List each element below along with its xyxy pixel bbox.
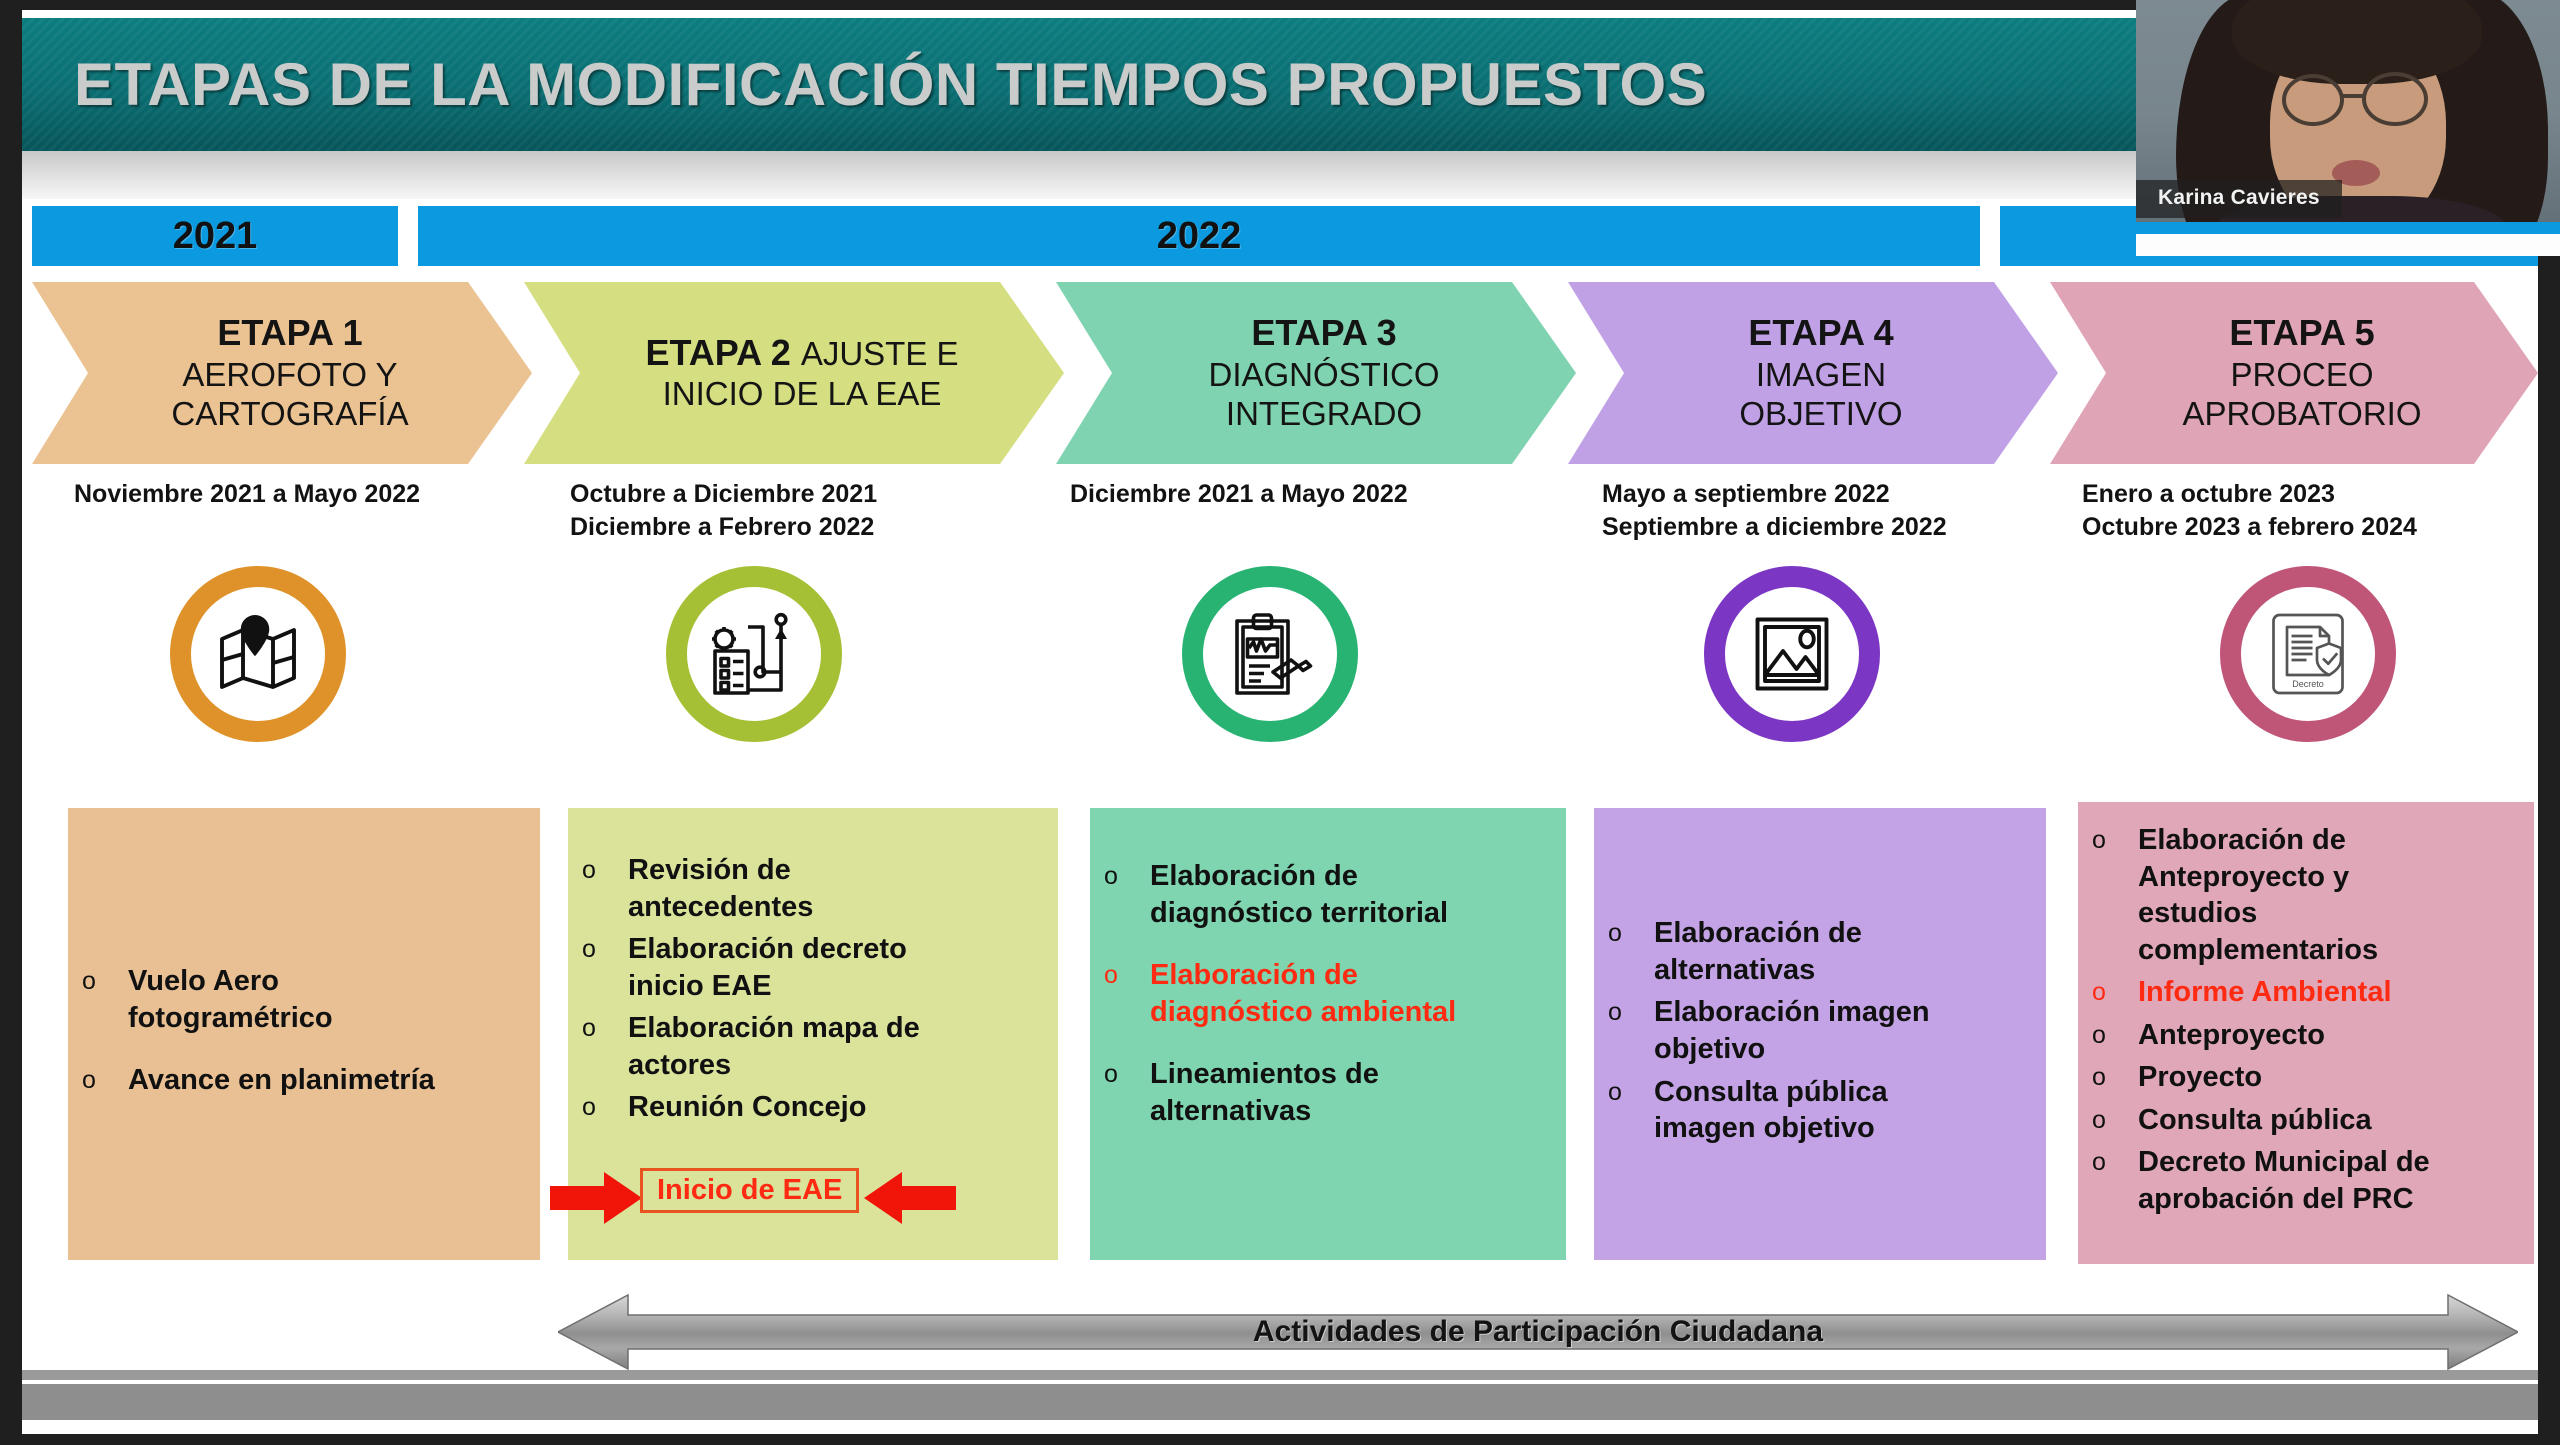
bullet-glyph: o xyxy=(2092,1144,2138,1180)
page-title: ETAPAS DE LA MODIFICACIÓN TIEMPOS PROPUE… xyxy=(74,50,1707,119)
left-red-arrow-icon xyxy=(550,1170,642,1226)
list-item: o Consulta públicaimagen objetivo xyxy=(1608,1074,1930,1147)
list-item-highlighted: o Elaboración dediagnóstico ambiental xyxy=(1104,957,1548,1030)
list-item-text: Vuelo Aerofotogramétrico xyxy=(128,963,333,1036)
stage-1-icon-ring xyxy=(170,566,346,742)
list-item-text: Decreto Municipal deaprobación del PRC xyxy=(2138,1144,2430,1217)
bullet-glyph: o xyxy=(1608,915,1654,951)
bullet-glyph: o xyxy=(82,1062,128,1098)
stage-chevron-4: ETAPA 4 IMAGENOBJETIVO xyxy=(1568,282,2058,464)
list-item-text: Elaboración dediagnóstico territorial xyxy=(1150,858,1448,931)
bullet-glyph: o xyxy=(2092,822,2138,858)
stage-5-content-box: o Elaboración deAnteproyecto yestudiosco… xyxy=(2078,802,2534,1264)
list-item: o Anteproyecto xyxy=(2092,1017,2516,1054)
stage-5-title: ETAPA 5 xyxy=(2229,312,2374,354)
bullet-glyph: o xyxy=(1104,957,1150,993)
stage-chevron-1: ETAPA 1 AEROFOTO YCARTOGRAFÍA xyxy=(32,282,532,464)
list-item-text: Consulta pública xyxy=(2138,1102,2372,1139)
list-item-text: Elaboración mapa deactores xyxy=(628,1010,920,1083)
stage-2-subtitle: INICIO DE LA EAE xyxy=(663,374,942,414)
banner-divider xyxy=(22,151,2162,199)
stage-2-icon-ring xyxy=(666,566,842,742)
list-item: o Proyecto xyxy=(2092,1059,2516,1096)
stage-chevron-5: ETAPA 5 PROCEOAPROBATORIO xyxy=(2050,282,2538,464)
list-item-text: Reunión Concejo xyxy=(628,1089,866,1126)
stage-1-content-box: o Vuelo Aerofotogramétrico o Avance en p… xyxy=(68,808,540,1260)
list-item-text: Proyecto xyxy=(2138,1059,2262,1096)
avatar-glasses-bridge xyxy=(2343,94,2365,98)
stage-1-subtitle: AEROFOTO YCARTOGRAFÍA xyxy=(171,355,408,434)
decree-document-icon: Decreto xyxy=(2260,606,2356,702)
list-item: o Elaboración decretoinicio EAE xyxy=(582,931,1040,1004)
bullet-glyph: o xyxy=(2092,1059,2138,1095)
bullet-glyph: o xyxy=(2092,1017,2138,1053)
list-item-text: Elaboración dealternativas xyxy=(1654,915,1862,988)
map-pin-icon xyxy=(210,606,306,702)
bullet-glyph: o xyxy=(582,931,628,967)
list-item: o Elaboración dediagnóstico territorial xyxy=(1104,858,1548,931)
screen-share-view: ETAPAS DE LA MODIFICACIÓN TIEMPOS PROPUE… xyxy=(0,0,2560,1445)
participant-video-tile[interactable]: Karina Cavieres xyxy=(2136,0,2560,256)
stage-4-subtitle: IMAGENOBJETIVO xyxy=(1739,355,1902,434)
stage-3-content-box: o Elaboración dediagnóstico territorial … xyxy=(1090,808,1566,1260)
list-item-highlighted: o Informe Ambiental xyxy=(2092,974,2516,1011)
inicio-eae-callout[interactable]: Inicio de EAE xyxy=(640,1168,859,1213)
avatar-glasses-left xyxy=(2282,74,2344,126)
stage-3-subtitle: DIAGNÓSTICOINTEGRADO xyxy=(1208,355,1439,434)
video-tile-footer xyxy=(2136,234,2560,256)
bullet-glyph: o xyxy=(1104,1056,1150,1092)
stage-3-icon-ring xyxy=(1182,566,1358,742)
video-active-speaker-bar xyxy=(2136,222,2560,234)
list-item-text: Lineamientos dealternativas xyxy=(1150,1056,1379,1129)
clipboard-pencil-icon xyxy=(1222,606,1318,702)
workflow-process-icon xyxy=(706,606,802,702)
bullet-glyph: o xyxy=(82,963,128,999)
list-item: o Decreto Municipal deaprobación del PRC xyxy=(2092,1144,2516,1217)
list-item: o Elaboración deAnteproyecto yestudiosco… xyxy=(2092,822,2516,968)
decree-icon-label: Decreto xyxy=(2292,679,2324,689)
stage-chevron-3: ETAPA 3 DIAGNÓSTICOINTEGRADO xyxy=(1056,282,1576,464)
stage-3-title: ETAPA 3 xyxy=(1251,312,1396,354)
list-item: o Elaboración imagenobjetivo xyxy=(1608,994,1930,1067)
list-item: o Reunión Concejo xyxy=(582,1089,1040,1126)
stage-3-dates: Diciembre 2021 a Mayo 2022 xyxy=(1070,478,1500,511)
list-item: o Lineamientos dealternativas xyxy=(1104,1056,1548,1129)
stage-3-bullet-list: o Elaboración dediagnóstico territorial … xyxy=(1104,824,1548,1129)
stage-1-title: ETAPA 1 xyxy=(217,312,362,354)
participation-activities-label: Actividades de Participación Ciudadana xyxy=(558,1306,2518,1358)
timeline-year-2022: 2022 xyxy=(418,206,1980,266)
right-red-arrow-icon xyxy=(864,1170,956,1226)
list-item-text: Elaboración dediagnóstico ambiental xyxy=(1150,957,1456,1030)
list-item-text: Elaboración imagenobjetivo xyxy=(1654,994,1930,1067)
timeline-year-2022-label: 2022 xyxy=(1157,215,1242,258)
list-item: o Elaboración mapa deactores xyxy=(582,1010,1040,1083)
stage-2-title-inline: AJUSTE E xyxy=(801,335,959,372)
bottom-strip-bottom xyxy=(22,1420,2538,1434)
bullet-glyph: o xyxy=(2092,1102,2138,1138)
stage-4-content-box: o Elaboración dealternativas o Elaboraci… xyxy=(1594,808,2046,1260)
list-item-text: Revisión deantecedentes xyxy=(628,852,813,925)
list-item: o Elaboración dealternativas xyxy=(1608,915,1930,988)
stage-chevron-2: ETAPA 2 AJUSTE E INICIO DE LA EAE xyxy=(524,282,1064,464)
bottom-strip-mid xyxy=(22,1384,2538,1420)
stage-1-bullet-list: o Vuelo Aerofotogramétrico o Avance en p… xyxy=(82,963,435,1105)
stage-2-dates: Octubre a Diciembre 2021 Diciembre a Feb… xyxy=(570,478,990,544)
bullet-glyph: o xyxy=(1104,858,1150,894)
stage-2-title: ETAPA 2 AJUSTE E xyxy=(645,332,958,374)
avatar-glasses-right xyxy=(2362,72,2428,126)
stage-4-icon-ring xyxy=(1704,566,1880,742)
participant-name-label: Karina Cavieres xyxy=(2136,180,2342,218)
list-item-text: Informe Ambiental xyxy=(2138,974,2392,1011)
list-item: o Consulta pública xyxy=(2092,1102,2516,1139)
image-photo-icon xyxy=(1744,606,1840,702)
list-item: o Avance en planimetría xyxy=(82,1062,435,1099)
bullet-glyph: o xyxy=(582,1010,628,1046)
timeline-year-2021-label: 2021 xyxy=(173,215,258,258)
list-item-text: Avance en planimetría xyxy=(128,1062,435,1099)
bullet-glyph: o xyxy=(2092,974,2138,1010)
timeline-year-2021: 2021 xyxy=(32,206,398,266)
bottom-strip-top xyxy=(22,1370,2538,1380)
stage-4-bullet-list: o Elaboración dealternativas o Elaboraci… xyxy=(1608,915,1930,1152)
stage-1-dates: Noviembre 2021 a Mayo 2022 xyxy=(74,478,514,511)
stage-4-title: ETAPA 4 xyxy=(1748,312,1893,354)
stage-2-bullet-list: o Revisión deantecedentes o Elaboración … xyxy=(582,824,1040,1126)
list-item: o Revisión deantecedentes xyxy=(582,852,1040,925)
bullet-glyph: o xyxy=(1608,1074,1654,1110)
stage-5-bullet-list: o Elaboración deAnteproyecto yestudiosco… xyxy=(2092,818,2516,1217)
slide-title-banner: ETAPAS DE LA MODIFICACIÓN TIEMPOS PROPUE… xyxy=(22,18,2162,151)
avatar-hair-top xyxy=(2232,0,2482,84)
stage-5-icon-ring: Decreto xyxy=(2220,566,2396,742)
bullet-glyph: o xyxy=(1608,994,1654,1030)
stage-5-dates: Enero a octubre 2023 Octubre 2023 a febr… xyxy=(2082,478,2532,544)
list-item: o Vuelo Aerofotogramétrico xyxy=(82,963,435,1036)
list-item-text: Consulta públicaimagen objetivo xyxy=(1654,1074,1888,1147)
list-item-text: Elaboración deAnteproyecto yestudioscomp… xyxy=(2138,822,2378,968)
bullet-glyph: o xyxy=(582,852,628,888)
list-item-text: Elaboración decretoinicio EAE xyxy=(628,931,907,1004)
list-item-text: Anteproyecto xyxy=(2138,1017,2325,1054)
stage-5-subtitle: PROCEOAPROBATORIO xyxy=(2183,355,2422,434)
bullet-glyph: o xyxy=(582,1089,628,1125)
stage-4-dates: Mayo a septiembre 2022 Septiembre a dici… xyxy=(1602,478,2052,544)
stage-chevron-row: ETAPA 1 AEROFOTO YCARTOGRAFÍA ETAPA 2 AJ… xyxy=(22,282,2538,464)
